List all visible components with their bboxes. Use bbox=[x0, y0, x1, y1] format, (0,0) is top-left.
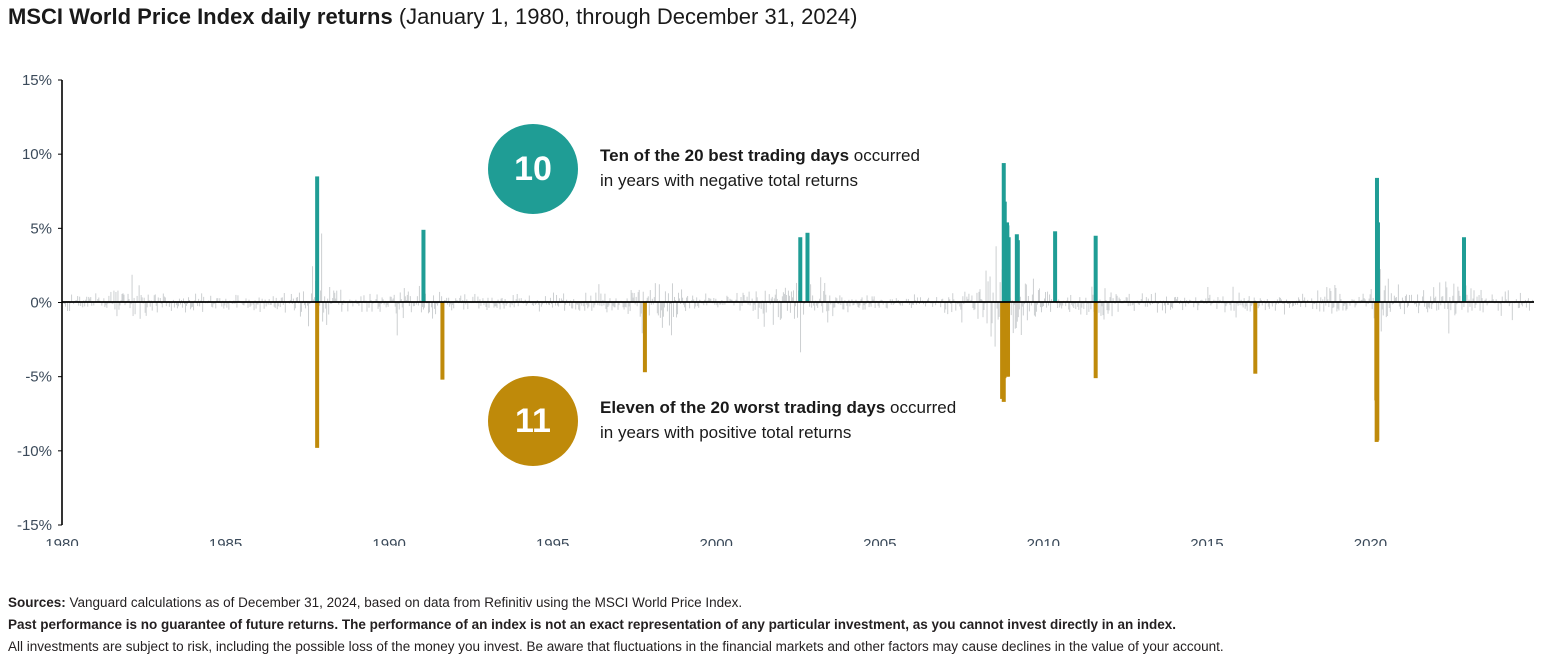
daily-return-bar bbox=[790, 303, 791, 313]
callout-best-days-bubble: 10 bbox=[488, 124, 578, 214]
daily-return-bar bbox=[959, 303, 960, 307]
best-day-bar bbox=[1376, 222, 1380, 302]
worst-day-bar bbox=[643, 303, 647, 373]
daily-return-bar bbox=[1416, 303, 1417, 307]
daily-return-bar bbox=[1444, 303, 1445, 309]
daily-return-bar bbox=[783, 292, 784, 302]
daily-return-bar bbox=[1447, 303, 1448, 310]
daily-return-bar bbox=[1475, 303, 1476, 309]
daily-return-bar bbox=[788, 291, 789, 303]
daily-return-bar bbox=[1172, 303, 1173, 309]
daily-return-bar bbox=[171, 303, 172, 311]
daily-return-bar bbox=[1021, 303, 1022, 336]
daily-return-bar bbox=[248, 303, 249, 308]
daily-return-bar bbox=[597, 303, 598, 306]
daily-return-bar bbox=[526, 303, 527, 306]
daily-return-bar bbox=[319, 303, 320, 306]
daily-return-bar bbox=[1505, 292, 1506, 303]
daily-return-bar bbox=[211, 303, 212, 307]
callout-worst-days-number: 11 bbox=[515, 402, 551, 441]
daily-return-bar bbox=[1439, 282, 1440, 302]
daily-return-bar bbox=[1078, 303, 1079, 310]
daily-return-bar bbox=[961, 303, 962, 323]
daily-return-bar bbox=[1355, 303, 1356, 308]
daily-return-bar bbox=[1461, 303, 1462, 310]
daily-return-bar bbox=[429, 303, 430, 313]
daily-return-bar bbox=[116, 303, 117, 317]
daily-return-bar bbox=[275, 303, 276, 308]
daily-return-bar bbox=[307, 303, 308, 306]
daily-return-bar bbox=[1433, 287, 1434, 302]
daily-return-bar bbox=[973, 303, 974, 311]
daily-return-bar bbox=[295, 303, 296, 309]
daily-return-bar bbox=[1332, 303, 1333, 309]
daily-return-bar bbox=[82, 303, 83, 308]
daily-return-bar bbox=[875, 303, 876, 309]
daily-return-bar bbox=[1259, 303, 1260, 307]
daily-return-bar bbox=[606, 303, 607, 313]
daily-return-bar bbox=[1207, 287, 1208, 302]
x-axis-tick-label: 2005 bbox=[863, 536, 896, 546]
daily-return-bar bbox=[878, 303, 879, 306]
daily-returns-bars bbox=[62, 234, 1534, 353]
daily-return-bar bbox=[539, 303, 540, 312]
daily-return-bar bbox=[1086, 303, 1087, 315]
daily-return-bar bbox=[135, 303, 136, 315]
daily-return-bar bbox=[190, 303, 191, 310]
daily-return-bar bbox=[940, 303, 941, 308]
daily-return-bar bbox=[1390, 303, 1391, 312]
daily-return-bar bbox=[300, 303, 301, 317]
daily-return-bar bbox=[911, 303, 912, 308]
daily-return-bar bbox=[254, 303, 255, 311]
daily-return-bar bbox=[733, 303, 734, 306]
daily-return-bar bbox=[223, 303, 224, 309]
daily-return-bar bbox=[1046, 303, 1047, 308]
daily-return-bar bbox=[500, 303, 501, 310]
daily-return-bar bbox=[1338, 303, 1339, 311]
daily-return-bar bbox=[694, 303, 695, 309]
daily-return-bar bbox=[753, 303, 754, 311]
daily-return-bar bbox=[1419, 303, 1420, 306]
daily-return-bar bbox=[1236, 303, 1237, 318]
daily-return-bar bbox=[902, 303, 903, 306]
daily-return-bar bbox=[326, 303, 327, 325]
daily-return-bar bbox=[997, 303, 998, 309]
daily-return-bar bbox=[333, 291, 334, 303]
y-axis-tick-label: 15% bbox=[22, 72, 52, 89]
daily-return-bar bbox=[1440, 303, 1441, 306]
x-axis-tick-label: 1985 bbox=[209, 536, 242, 546]
daily-return-bar bbox=[1366, 303, 1367, 307]
worst-day-bar bbox=[1006, 303, 1010, 377]
daily-return-bar bbox=[221, 303, 222, 307]
daily-return-bar bbox=[178, 303, 179, 307]
daily-return-bar bbox=[403, 303, 404, 319]
daily-return-bar bbox=[494, 303, 495, 308]
best-day-bar bbox=[1462, 237, 1466, 302]
daily-return-bar bbox=[1031, 303, 1032, 306]
daily-return-bar bbox=[504, 303, 505, 309]
daily-return-bar bbox=[879, 303, 880, 308]
daily-return-bar bbox=[990, 276, 991, 302]
daily-return-bar bbox=[1316, 303, 1317, 310]
daily-return-bar bbox=[411, 303, 412, 313]
daily-return-bar bbox=[284, 293, 285, 303]
daily-return-bar bbox=[1081, 303, 1082, 308]
daily-return-bar bbox=[185, 303, 186, 313]
daily-return-bar bbox=[833, 303, 834, 308]
daily-return-bar bbox=[1047, 292, 1048, 303]
daily-return-bar bbox=[598, 284, 599, 302]
daily-return-bar bbox=[703, 303, 704, 306]
daily-return-bar bbox=[685, 303, 686, 312]
daily-return-bar bbox=[664, 303, 665, 308]
daily-return-bar bbox=[1083, 303, 1084, 310]
daily-return-bar bbox=[1289, 303, 1290, 308]
callout-best-days-line1-rest: occurred bbox=[849, 146, 920, 165]
daily-return-bar bbox=[1463, 303, 1464, 308]
daily-return-bar bbox=[1060, 303, 1061, 306]
daily-return-bar bbox=[150, 303, 151, 307]
daily-return-bar bbox=[761, 303, 762, 309]
daily-return-bar bbox=[467, 303, 468, 310]
daily-return-bar bbox=[1027, 303, 1028, 321]
worst-day-bar bbox=[1094, 303, 1098, 379]
daily-return-bar bbox=[1069, 303, 1070, 312]
daily-return-bar bbox=[226, 303, 227, 308]
daily-return-bar bbox=[65, 303, 66, 307]
daily-return-bar bbox=[979, 289, 980, 302]
daily-return-bar bbox=[1317, 290, 1318, 302]
daily-return-bar bbox=[1147, 303, 1148, 307]
daily-return-bar bbox=[496, 303, 497, 307]
daily-return-bar bbox=[228, 303, 229, 310]
daily-return-bar bbox=[552, 303, 553, 308]
daily-return-bar bbox=[424, 303, 425, 308]
daily-return-bar bbox=[1458, 291, 1459, 303]
daily-return-bar bbox=[1389, 303, 1390, 309]
daily-return-bar bbox=[156, 303, 157, 306]
daily-return-bar bbox=[369, 303, 370, 308]
daily-return-bar bbox=[1035, 303, 1036, 317]
daily-return-bar bbox=[1427, 303, 1428, 313]
daily-return-bar bbox=[1045, 292, 1046, 303]
daily-return-bar bbox=[419, 286, 420, 303]
daily-return-bar bbox=[1065, 303, 1066, 307]
daily-return-bar bbox=[1450, 303, 1451, 311]
daily-return-bar bbox=[1171, 303, 1172, 308]
daily-return-bar bbox=[1382, 303, 1383, 310]
daily-return-bar bbox=[388, 303, 389, 307]
daily-return-bar bbox=[1015, 303, 1016, 329]
daily-return-bar bbox=[749, 292, 750, 303]
daily-return-bar bbox=[572, 303, 573, 309]
x-axis-tick-label: 2015 bbox=[1190, 536, 1223, 546]
daily-return-bar bbox=[1448, 303, 1449, 334]
daily-return-bar bbox=[672, 283, 673, 302]
daily-return-bar bbox=[1107, 303, 1108, 311]
daily-return-bar bbox=[91, 303, 92, 306]
daily-return-bar bbox=[785, 288, 786, 303]
daily-return-bar bbox=[1293, 303, 1294, 306]
daily-return-bar bbox=[1512, 303, 1513, 321]
footnote-sources-text: Vanguard calculations as of December 31,… bbox=[66, 595, 742, 610]
daily-return-bar bbox=[1197, 303, 1198, 311]
daily-return-bar bbox=[780, 303, 781, 320]
daily-return-bar bbox=[611, 303, 612, 311]
daily-return-bar bbox=[1118, 303, 1119, 312]
daily-return-bar bbox=[1231, 303, 1232, 311]
daily-return-bar bbox=[662, 303, 663, 328]
daily-return-bar bbox=[1193, 303, 1194, 308]
daily-return-bar bbox=[1090, 303, 1091, 310]
daily-return-bar bbox=[1431, 303, 1432, 309]
daily-return-bar bbox=[585, 293, 586, 303]
daily-return-bar bbox=[1329, 288, 1330, 302]
daily-return-bar bbox=[69, 303, 70, 311]
daily-return-bar bbox=[843, 303, 844, 310]
daily-return-bar bbox=[1262, 303, 1263, 306]
daily-return-bar bbox=[1091, 287, 1092, 303]
daily-return-bar bbox=[1103, 303, 1104, 320]
daily-return-bar bbox=[312, 266, 313, 302]
daily-return-bar bbox=[1418, 303, 1419, 314]
daily-return-bar bbox=[133, 303, 134, 317]
daily-return-bar bbox=[615, 303, 616, 308]
daily-return-bar bbox=[992, 303, 993, 324]
daily-return-bar bbox=[1108, 303, 1109, 314]
daily-return-bar bbox=[634, 293, 635, 303]
daily-return-bar bbox=[105, 303, 106, 306]
daily-return-bar bbox=[817, 303, 818, 308]
daily-return-bar bbox=[797, 303, 798, 318]
daily-return-bar bbox=[1102, 303, 1103, 316]
worst-day-bar bbox=[315, 303, 319, 448]
best-day-bar bbox=[315, 176, 319, 302]
daily-return-bar bbox=[1111, 292, 1112, 302]
daily-return-bar bbox=[80, 303, 81, 306]
daily-return-bar bbox=[1522, 303, 1523, 307]
daily-return-bar bbox=[587, 303, 588, 309]
worst-day-bar bbox=[1374, 303, 1378, 401]
daily-return-bar bbox=[1312, 303, 1313, 309]
daily-return-bar bbox=[671, 303, 672, 336]
daily-return-bar bbox=[1242, 303, 1243, 306]
daily-return-bar bbox=[162, 303, 163, 308]
daily-return-bar bbox=[192, 303, 193, 307]
x-axis-tick-label: 2010 bbox=[1027, 536, 1060, 546]
daily-return-bar bbox=[1130, 303, 1131, 306]
daily-return-bar bbox=[1088, 303, 1089, 312]
daily-return-bar bbox=[847, 303, 848, 313]
daily-return-bar bbox=[1250, 303, 1251, 312]
daily-return-bar bbox=[626, 303, 627, 308]
daily-return-bar bbox=[139, 285, 140, 302]
worst-day-bar bbox=[440, 303, 444, 380]
x-axis-tick-label: 1980 bbox=[45, 536, 78, 546]
daily-return-bar bbox=[1011, 303, 1012, 316]
worst-day-bar bbox=[1253, 303, 1257, 374]
daily-return-bar bbox=[826, 303, 827, 312]
daily-return-bar bbox=[765, 291, 766, 303]
daily-return-bar bbox=[1100, 303, 1101, 316]
daily-return-bar bbox=[439, 292, 440, 303]
daily-return-bar bbox=[743, 293, 744, 303]
daily-return-bar bbox=[1429, 303, 1430, 309]
daily-return-bar bbox=[1386, 303, 1387, 318]
daily-return-bar bbox=[984, 303, 985, 310]
daily-return-bar bbox=[1385, 286, 1386, 303]
daily-return-bar bbox=[764, 303, 765, 327]
daily-return-bar bbox=[665, 291, 666, 302]
daily-return-bar bbox=[336, 291, 337, 303]
daily-return-bar bbox=[212, 303, 213, 308]
daily-return-bar bbox=[340, 290, 341, 303]
daily-return-bar bbox=[595, 293, 596, 303]
daily-return-bar bbox=[1057, 303, 1058, 308]
daily-return-bar bbox=[763, 303, 764, 314]
daily-return-bar bbox=[1454, 303, 1455, 316]
x-axis-tick-label: 1995 bbox=[536, 536, 569, 546]
daily-return-bar bbox=[1239, 293, 1240, 303]
daily-return-bar bbox=[322, 303, 323, 322]
daily-return-bar bbox=[810, 284, 811, 302]
daily-return-bar bbox=[1043, 303, 1044, 307]
daily-return-bar bbox=[422, 303, 423, 307]
daily-return-bar bbox=[404, 288, 405, 302]
daily-return-bar bbox=[632, 293, 633, 303]
x-axis-tick-label: 2020 bbox=[1354, 536, 1387, 546]
daily-return-bar bbox=[325, 303, 326, 309]
callout-worst-days-bubble: 11 bbox=[488, 376, 578, 466]
daily-return-bar bbox=[380, 303, 381, 312]
daily-return-bar bbox=[1467, 303, 1468, 313]
daily-return-bar bbox=[1243, 303, 1244, 308]
daily-return-bar bbox=[1247, 303, 1248, 311]
daily-return-bar bbox=[256, 303, 257, 309]
daily-return-bar bbox=[1268, 303, 1269, 307]
daily-return-bar bbox=[637, 303, 638, 307]
daily-return-bar bbox=[1343, 303, 1344, 306]
daily-return-bar bbox=[113, 291, 114, 303]
daily-return-bar bbox=[684, 303, 685, 308]
daily-return-bar bbox=[334, 293, 335, 303]
daily-return-bar bbox=[871, 303, 872, 307]
daily-return-bar bbox=[119, 303, 120, 306]
daily-return-bar bbox=[358, 303, 359, 306]
daily-return-bar bbox=[673, 303, 674, 317]
daily-return-bar bbox=[796, 283, 797, 303]
daily-return-bar bbox=[988, 281, 989, 302]
daily-return-bar bbox=[328, 303, 329, 315]
best-day-bar bbox=[798, 237, 802, 302]
daily-return-bar bbox=[1225, 303, 1226, 307]
daily-return-bar bbox=[655, 283, 656, 302]
daily-return-bar bbox=[449, 303, 450, 307]
daily-return-bar bbox=[612, 303, 613, 306]
daily-return-bar bbox=[601, 303, 602, 307]
daily-return-bar bbox=[571, 303, 572, 309]
daily-return-bar bbox=[341, 303, 342, 312]
daily-return-bar bbox=[87, 303, 88, 307]
daily-return-bar bbox=[67, 303, 68, 312]
daily-return-bar bbox=[630, 303, 631, 312]
daily-return-bar bbox=[506, 303, 507, 306]
daily-return-bar bbox=[756, 291, 757, 302]
daily-return-bar bbox=[579, 303, 580, 311]
best-day-bar bbox=[1007, 237, 1011, 302]
daily-return-bar bbox=[1408, 303, 1409, 306]
daily-return-bar bbox=[1325, 303, 1326, 306]
daily-return-bar bbox=[766, 303, 767, 313]
daily-return-bar bbox=[1330, 291, 1331, 302]
daily-return-bar bbox=[1040, 303, 1041, 308]
daily-return-bar bbox=[900, 303, 901, 306]
daily-return-bar bbox=[518, 303, 519, 307]
daily-return-bar bbox=[824, 283, 825, 303]
daily-return-bar bbox=[860, 303, 861, 306]
daily-return-bar bbox=[451, 303, 452, 311]
daily-return-bar bbox=[603, 303, 604, 306]
daily-return-bar bbox=[1017, 303, 1018, 322]
daily-return-bar bbox=[182, 303, 183, 308]
daily-return-bar bbox=[828, 303, 829, 311]
daily-return-bar bbox=[1198, 303, 1199, 306]
daily-return-bar bbox=[1388, 279, 1389, 303]
daily-return-bar bbox=[395, 303, 396, 307]
daily-return-bar bbox=[791, 292, 792, 303]
best-day-bar bbox=[1053, 231, 1057, 302]
daily-return-bar bbox=[599, 303, 600, 306]
daily-return-bar bbox=[623, 303, 624, 308]
daily-return-bar bbox=[996, 246, 997, 302]
daily-return-bar bbox=[1018, 303, 1019, 318]
daily-return-bar bbox=[278, 303, 279, 307]
page-title-subtitle: (January 1, 1980, through December 31, 2… bbox=[393, 4, 858, 29]
daily-return-bar bbox=[1042, 303, 1043, 307]
daily-return-bar bbox=[558, 303, 559, 307]
daily-return-bar bbox=[106, 303, 107, 308]
callout-best-days: 10 Ten of the 20 best trading days occur… bbox=[488, 124, 920, 214]
daily-return-bar bbox=[1398, 284, 1399, 302]
daily-return-bar bbox=[659, 284, 660, 302]
daily-return-bar bbox=[581, 303, 582, 306]
daily-return-bar bbox=[1336, 303, 1337, 312]
daily-return-bar bbox=[1132, 303, 1133, 306]
y-axis-tick-label: -5% bbox=[25, 369, 52, 386]
daily-return-bar bbox=[78, 303, 79, 306]
daily-return-bar bbox=[1342, 303, 1343, 311]
daily-return-bar bbox=[1407, 303, 1408, 308]
daily-return-bar bbox=[697, 303, 698, 307]
daily-return-bar bbox=[146, 303, 147, 316]
best-day-bar bbox=[1094, 236, 1098, 303]
daily-return-bar bbox=[114, 303, 115, 310]
callout-worst-days: 11 Eleven of the 20 worst trading days o… bbox=[488, 376, 956, 466]
daily-return-bar bbox=[960, 303, 961, 310]
daily-return-bar bbox=[1016, 303, 1017, 329]
daily-return-bar bbox=[1334, 285, 1335, 302]
daily-return-bar bbox=[1346, 303, 1347, 310]
daily-return-bar bbox=[215, 303, 216, 309]
daily-return-bar bbox=[944, 303, 945, 313]
daily-return-bar bbox=[1305, 303, 1306, 308]
daily-return-bar bbox=[742, 303, 743, 306]
daily-return-bar bbox=[366, 303, 367, 312]
daily-return-bar bbox=[1335, 288, 1336, 303]
daily-return-bar bbox=[1387, 303, 1388, 317]
